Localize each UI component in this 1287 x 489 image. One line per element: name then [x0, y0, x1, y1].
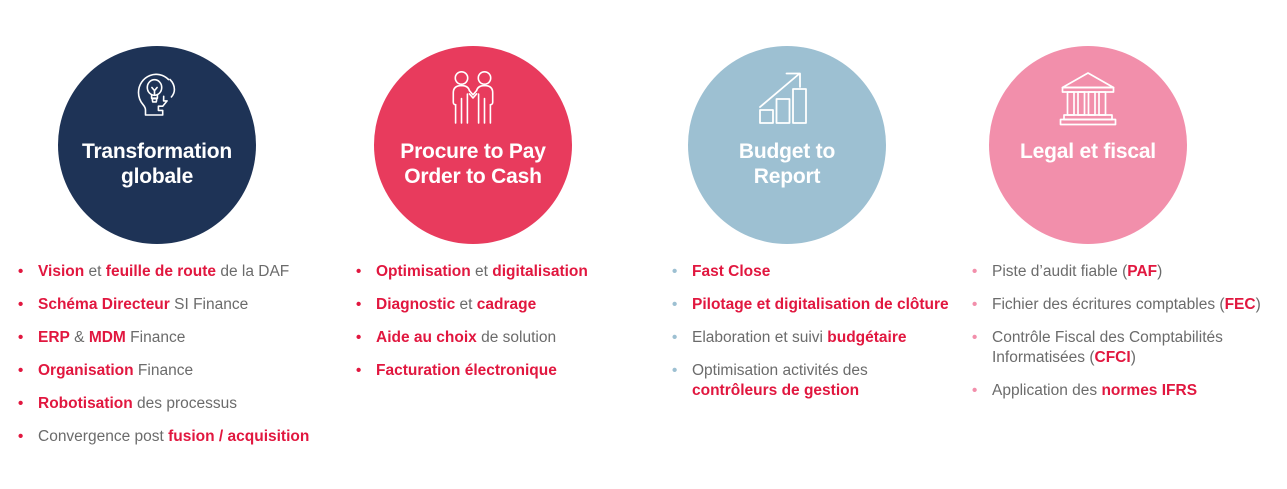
pillar-title-line: Budget to	[697, 140, 877, 165]
pillars-infographic: Transformation globale	[0, 0, 1287, 489]
bullet-item: •Elaboration et suivi budgétaire	[672, 328, 952, 348]
handshake-icon	[436, 64, 510, 134]
pillar-circle-legal-et-fiscal[interactable]: Legal et fiscal	[989, 46, 1187, 244]
bullet-dot-icon: •	[18, 328, 38, 348]
bullet-dot-icon: •	[18, 295, 38, 315]
head-lightbulb-icon	[120, 64, 194, 134]
bullet-item: •Optimisation activités des contrôleurs …	[672, 361, 952, 401]
bullet-column-legal-et-fiscal: •Piste d’audit fiable (PAF)•Fichier des …	[972, 262, 1262, 401]
bullet-dot-icon: •	[18, 361, 38, 381]
bullet-dot-icon: •	[972, 328, 992, 348]
bullet-dot-icon: •	[18, 394, 38, 414]
bullet-text: Vision et feuille de route de la DAF	[38, 262, 348, 282]
bullet-item: •Application des normes IFRS	[972, 381, 1262, 401]
bullet-dot-icon: •	[356, 295, 376, 315]
pillar-title-line: Transformation	[67, 140, 247, 165]
bullet-dot-icon: •	[356, 361, 376, 381]
pillar-circle-transformation-globale[interactable]: Transformation globale	[58, 46, 256, 244]
bullet-item: •Pilotage et digitalisation de clôture	[672, 295, 952, 315]
bullet-text: Elaboration et suivi budgétaire	[692, 328, 952, 348]
bullet-item: •Vision et feuille de route de la DAF	[18, 262, 348, 282]
pillar-bullet-columns: •Vision et feuille de route de la DAF•Sc…	[0, 262, 1287, 489]
pillar-title-line: Order to Cash	[383, 165, 563, 190]
bullet-dot-icon: •	[356, 328, 376, 348]
pillar-title-line: Report	[697, 165, 877, 190]
bullet-dot-icon: •	[672, 295, 692, 315]
bullet-text: Schéma Directeur SI Finance	[38, 295, 348, 315]
pillar-circle-budget-to-report[interactable]: Budget to Report	[688, 46, 886, 244]
bullet-item: •Schéma Directeur SI Finance	[18, 295, 348, 315]
bullet-text: Facturation électronique	[376, 361, 656, 381]
bullet-item: •Convergence post fusion / acquisition	[18, 427, 348, 447]
pillar-title: Budget to Report	[697, 140, 877, 190]
bullet-dot-icon: •	[972, 262, 992, 282]
bullet-dot-icon: •	[18, 262, 38, 282]
pillar-title-line: Legal et fiscal	[998, 140, 1178, 165]
bullet-dot-icon: •	[356, 262, 376, 282]
pillar-title-line: globale	[67, 165, 247, 190]
bullet-text: Fast Close	[692, 262, 952, 282]
bullet-item: •Optimisation et digitalisation	[356, 262, 656, 282]
bullet-text: Convergence post fusion / acquisition	[38, 427, 348, 447]
bullet-text: Optimisation et digitalisation	[376, 262, 656, 282]
bullet-dot-icon: •	[18, 427, 38, 447]
bullet-text: ERP & MDM Finance	[38, 328, 348, 348]
pillar-title: Legal et fiscal	[998, 140, 1178, 165]
bullet-column-procure-to-pay: •Optimisation et digitalisation•Diagnost…	[356, 262, 656, 381]
pillar-title: Procure to Pay Order to Cash	[383, 140, 563, 190]
bullet-item: •Contrôle Fiscal des Comptabilités Infor…	[972, 328, 1262, 368]
bullet-item: •Fichier des écritures comptables (FEC)	[972, 295, 1262, 315]
bullet-item: •Facturation électronique	[356, 361, 656, 381]
bullet-dot-icon: •	[672, 328, 692, 348]
bullet-column-transformation-globale: •Vision et feuille de route de la DAF•Sc…	[18, 262, 348, 447]
bullet-text: Diagnostic et cadrage	[376, 295, 656, 315]
bullet-text: Organisation Finance	[38, 361, 348, 381]
bullet-dot-icon: •	[972, 381, 992, 401]
bullet-text: Optimisation activités des contrôleurs d…	[692, 361, 952, 401]
bullet-item: •Diagnostic et cadrage	[356, 295, 656, 315]
bullet-dot-icon: •	[672, 262, 692, 282]
bullet-text: Robotisation des processus	[38, 394, 348, 414]
bullet-item: •Robotisation des processus	[18, 394, 348, 414]
bullet-text: Fichier des écritures comptables (FEC)	[992, 295, 1262, 315]
bullet-item: •Fast Close	[672, 262, 952, 282]
bullet-item: •Piste d’audit fiable (PAF)	[972, 262, 1262, 282]
bullet-text: Application des normes IFRS	[992, 381, 1262, 401]
institution-building-icon	[1051, 64, 1125, 134]
bullet-item: •Organisation Finance	[18, 361, 348, 381]
pillar-title-line: Procure to Pay	[383, 140, 563, 165]
bullet-dot-icon: •	[972, 295, 992, 315]
bullet-item: •Aide au choix de solution	[356, 328, 656, 348]
pillar-title: Transformation globale	[67, 140, 247, 190]
bullet-text: Contrôle Fiscal des Comptabilités Inform…	[992, 328, 1262, 368]
bullet-text: Piste d’audit fiable (PAF)	[992, 262, 1262, 282]
bullet-dot-icon: •	[672, 361, 692, 381]
bullet-item: •ERP & MDM Finance	[18, 328, 348, 348]
bullet-text: Aide au choix de solution	[376, 328, 656, 348]
pillar-circle-procure-to-pay[interactable]: Procure to Pay Order to Cash	[374, 46, 572, 244]
growth-bar-chart-icon	[750, 64, 824, 134]
bullet-column-budget-to-report: •Fast Close•Pilotage et digitalisation d…	[672, 262, 952, 401]
bullet-text: Pilotage et digitalisation de clôture	[692, 295, 952, 315]
pillar-circles-row: Transformation globale	[0, 0, 1287, 250]
